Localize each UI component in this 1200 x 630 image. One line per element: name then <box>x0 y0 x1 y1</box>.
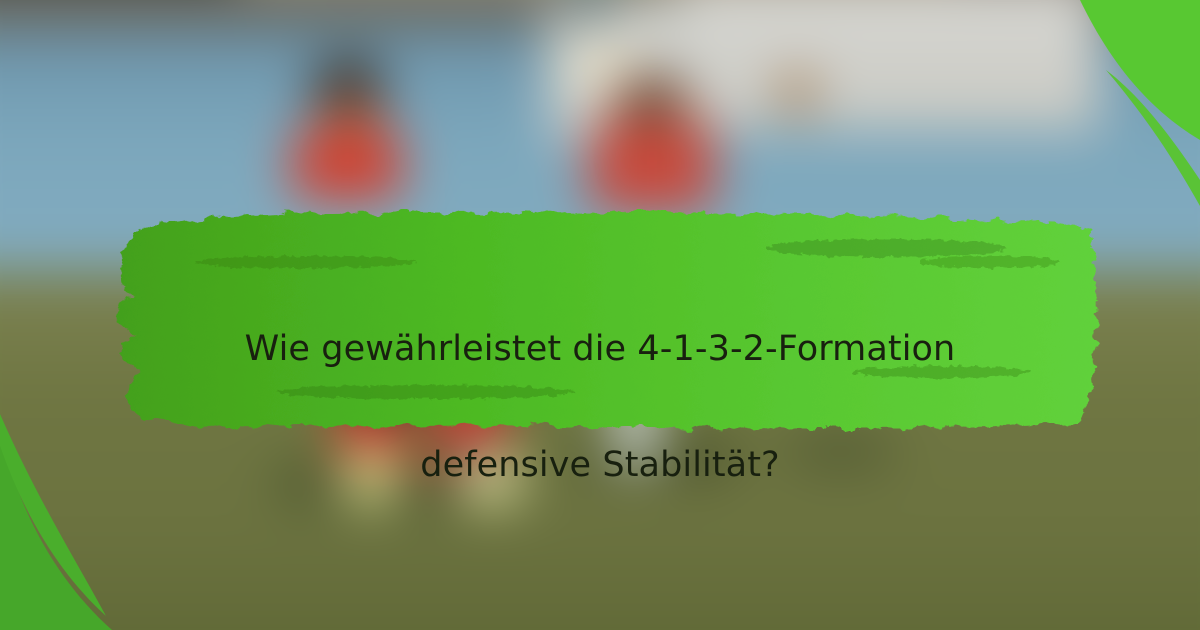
wall-white-panel <box>680 0 1100 130</box>
player-far-head <box>780 72 814 116</box>
player-left-torso <box>292 130 402 200</box>
headline-line-2: defensive Stabilität? <box>150 436 1050 494</box>
social-share-card: Wie gewährleistet die 4-1-3-2-Formation … <box>0 0 1200 630</box>
green-corner-swoosh-top-right <box>1050 0 1200 220</box>
headline-line-1: Wie gewährleistet die 4-1-3-2-Formation <box>150 320 1050 378</box>
page-title: Wie gewährleistet die 4-1-3-2-Formation … <box>150 262 1050 552</box>
